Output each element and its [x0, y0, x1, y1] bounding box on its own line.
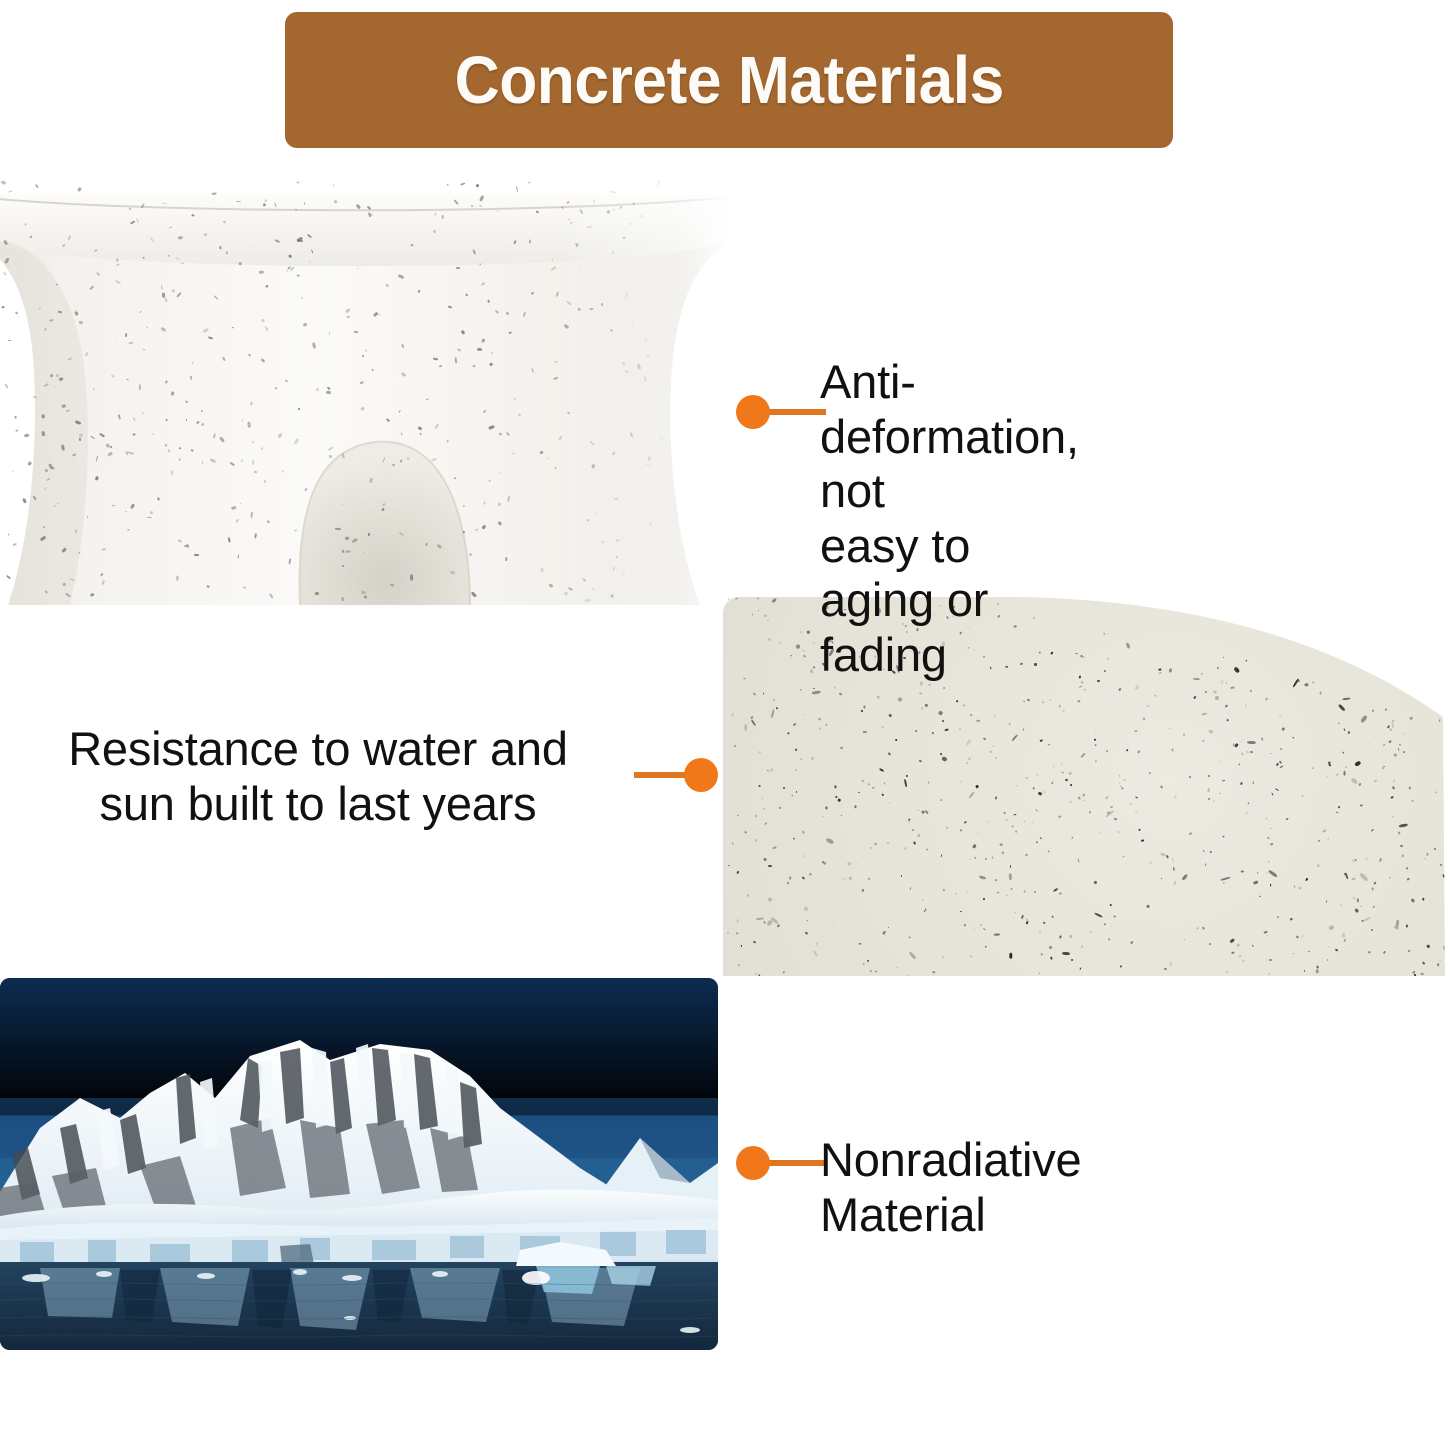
- infographic-page: Concrete Materials: [0, 0, 1445, 1445]
- page-title: Concrete Materials: [454, 47, 1003, 114]
- leader-line-icon: [768, 1160, 826, 1166]
- bullet-dot-icon: [736, 395, 770, 429]
- feature-label-nonradiative: Nonradiative Material: [820, 1133, 1081, 1242]
- feature-label-water-sun-resistance: Resistance to water and sun built to las…: [18, 722, 618, 831]
- leader-line-icon: [768, 409, 826, 415]
- stool-illustration: [0, 180, 732, 605]
- feature-label-anti-deformation: Anti-deformation, not easy to aging or f…: [820, 355, 1079, 682]
- title-banner: Concrete Materials: [285, 12, 1173, 148]
- landscape-illustration: [0, 978, 718, 1350]
- bullet-dot-icon: [736, 1146, 770, 1180]
- concrete-stool-photo: [0, 180, 732, 605]
- antarctic-landscape-photo: [0, 978, 718, 1350]
- bullet-dot-icon: [684, 758, 718, 792]
